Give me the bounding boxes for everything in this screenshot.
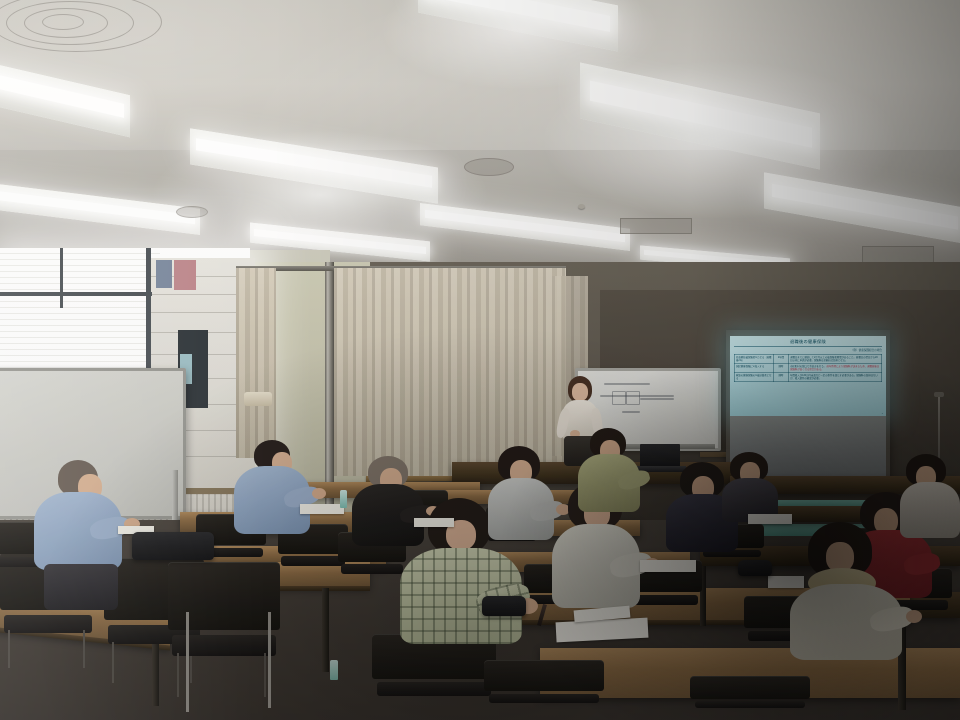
sprinkler-head-1 xyxy=(578,204,585,209)
ceiling-vent-round-1 xyxy=(176,206,208,218)
slide-cell-body: 年間収入が130万円未満など一定の条件を満たす必要がある。保険料の負担はないが、… xyxy=(789,372,882,381)
paper-sheet-mid[interactable] xyxy=(414,518,454,527)
person-attendee-7 xyxy=(578,428,640,514)
paper-sheet-right-1[interactable] xyxy=(640,560,696,572)
table-leg-1 xyxy=(322,588,329,672)
stand-pole-head xyxy=(934,392,944,397)
presentation-slide: 退職後の健康保険 （例）健康保険組合の場合 任意継続被保険者\nとなる（退職後2… xyxy=(730,336,886,416)
window-mullion-horizontal xyxy=(0,292,152,296)
shoulder-bag[interactable] xyxy=(132,532,214,560)
small-bag-center[interactable] xyxy=(482,596,526,616)
exterior-blue-panel xyxy=(156,260,172,288)
person-attendee-5 xyxy=(488,446,554,542)
slide-cell-body: 退職日までに継続して2か月以上の被保険者期間があること。退職日の翌日から20日以… xyxy=(789,354,882,363)
ceiling-medallion-ring-core xyxy=(42,14,84,30)
chair-right-1[interactable] xyxy=(690,676,810,720)
slide-table-row: 家族の健康保険の\n被扶養者となる 随時 年間収入が130万円未満など一定の条件… xyxy=(735,372,882,381)
slide-subtitle: （例）健康保険組合の場合 xyxy=(734,348,882,352)
whiteboard-writing-box-2 xyxy=(626,391,640,405)
presenter-head xyxy=(572,383,588,401)
slide-table: 任意継続被保険者\nとなる（退職後2年） 2年間 退職日までに継続して2か月以上… xyxy=(734,354,882,382)
slide-table-row: 任意継続被保険者\nとなる（退職後2年） 2年間 退職日までに継続して2か月以上… xyxy=(735,354,882,363)
attendee-1-trousers xyxy=(44,564,118,610)
curtain-left[interactable] xyxy=(236,268,276,458)
slide-cell-period: 随時 xyxy=(773,363,788,372)
slide-cell-label: 国民健康保険に\n加入する xyxy=(735,363,774,372)
ceiling-vent-round-2 xyxy=(464,158,514,176)
chair-chrome-frame-2 xyxy=(268,612,271,708)
slide-title: 退職後の健康保険 xyxy=(734,339,882,347)
slide-cell-body: 市区町村の窓口で手続きを行う。 前年所得により保険料が決まるため、退職直後は保険… xyxy=(789,363,882,372)
chair-chrome-frame-1 xyxy=(186,612,189,712)
bag-right[interactable] xyxy=(738,560,772,576)
curtain-tieback xyxy=(244,392,272,406)
slide-cell-period: 2年間 xyxy=(773,354,788,363)
whiteboard-writing-line-4 xyxy=(622,411,640,413)
paper-sheet-right-3[interactable] xyxy=(768,576,804,588)
window-mullion-vertical-2 xyxy=(60,248,63,308)
exterior-red-panel xyxy=(174,260,196,290)
person-attendee-1 xyxy=(28,460,124,610)
slide-cell-label: 任意継続被保険者\nとなる（退職後2年） xyxy=(735,354,774,363)
ceiling-grille-1 xyxy=(620,218,692,234)
projection-screen-image: 退職後の健康保険 （例）健康保険組合の場合 任意継続被保険者\nとなる（退職後2… xyxy=(730,336,886,416)
slide-page-number: 4 xyxy=(882,413,883,415)
whiteboard-writing-line-1 xyxy=(604,383,650,385)
paper-sheet-left-1[interactable] xyxy=(300,504,344,514)
seminar-room-photo: 退職後の健康保険 （例）健康保険組合の場合 任意継続被保険者\nとなる（退職後2… xyxy=(0,0,960,720)
slide-cell-period: 随時 xyxy=(773,372,788,381)
slide-cell-label: 家族の健康保険の\n被扶養者となる xyxy=(735,372,774,381)
person-attendee-12 xyxy=(722,452,778,522)
person-attendee-11 xyxy=(790,522,910,662)
chair-center-front-2[interactable] xyxy=(484,660,604,720)
attendee-2-hand xyxy=(312,488,326,499)
curtain-center[interactable] xyxy=(334,268,566,476)
slide-table-row: 国民健康保険に\n加入する 随時 市区町村の窓口で手続きを行う。 前年所得により… xyxy=(735,363,882,372)
chair-front-left-3[interactable] xyxy=(168,562,280,692)
whiteboard-writing-line-3 xyxy=(640,398,674,400)
wall-column-divider xyxy=(325,262,334,506)
person-attendee-2 xyxy=(232,440,312,550)
whiteboard-writing-box-1 xyxy=(612,391,626,405)
paper-sheet-right-2[interactable] xyxy=(748,514,792,524)
water-bottle-1[interactable] xyxy=(340,490,347,508)
water-bottle-2[interactable] xyxy=(330,660,338,680)
attendee-11-hand xyxy=(906,610,922,623)
